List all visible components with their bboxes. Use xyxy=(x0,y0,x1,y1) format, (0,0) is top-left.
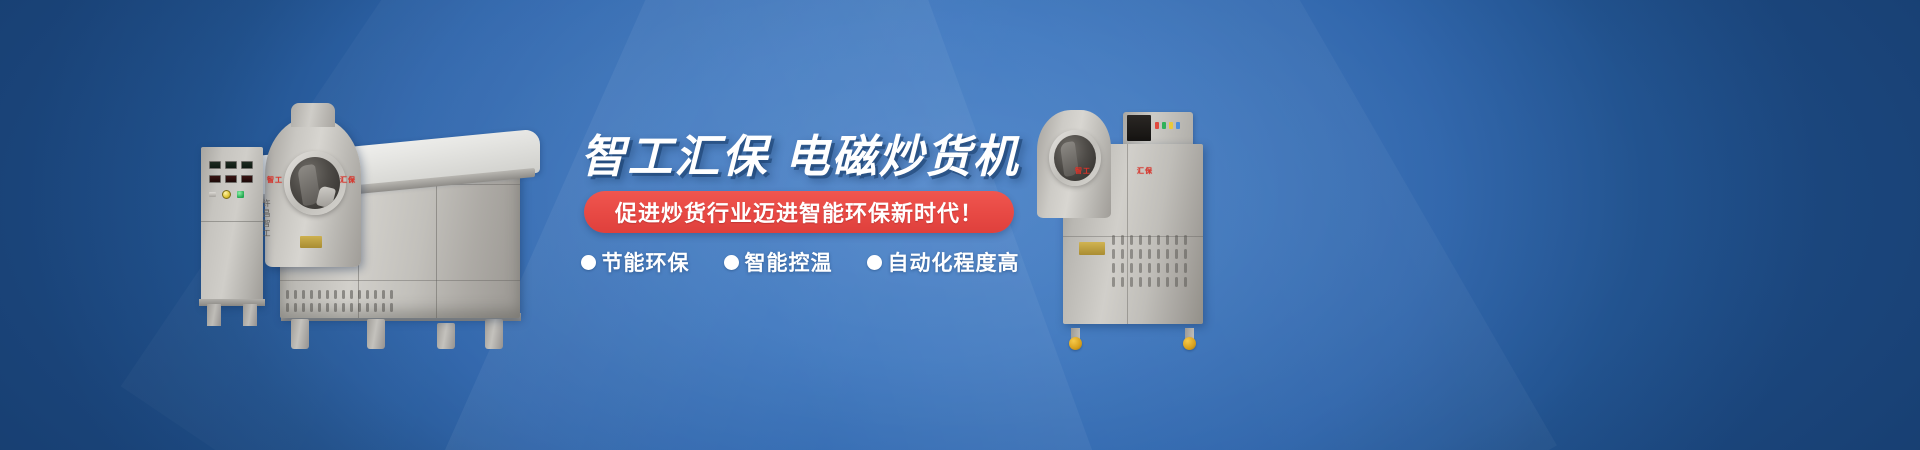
vent-louvre xyxy=(382,303,385,312)
indicator-light xyxy=(237,191,244,198)
vent-louvre xyxy=(374,303,377,312)
vent-louvre xyxy=(334,303,337,312)
vent-louvre xyxy=(1166,277,1169,287)
caster-wheel xyxy=(1069,337,1082,350)
vent-louvre xyxy=(1148,263,1151,273)
vent-louvre xyxy=(1166,263,1169,273)
filled-circle-bullet-icon xyxy=(724,255,739,270)
rotary-knob xyxy=(222,190,231,199)
vent-louvre xyxy=(294,303,297,312)
vent-louvre xyxy=(1139,277,1142,287)
machine-control-cabinet xyxy=(201,147,263,305)
panel-seam xyxy=(201,221,263,222)
indicator-light xyxy=(1155,122,1159,129)
vent-louvre xyxy=(1148,249,1151,259)
machine-leg xyxy=(485,319,503,349)
banner-text-column: 智工汇保电磁炒货机 促进炒货行业迈进智能环保新时代！ 节能环保 智能控温 自动化… xyxy=(540,0,1060,450)
vent-louvre xyxy=(350,290,353,299)
vent-louvre xyxy=(294,290,297,299)
vent-louvre xyxy=(1121,249,1124,259)
vent-louvre xyxy=(1121,277,1124,287)
vent-louvre xyxy=(1184,277,1187,287)
vent-louvre xyxy=(318,290,321,299)
machine-vent-grille xyxy=(285,289,397,317)
vent-louvre xyxy=(1121,235,1124,245)
vent-louvre xyxy=(1121,263,1124,273)
feature-item-automation: 自动化程度高 xyxy=(867,247,1020,277)
feature-item-smart-temperature: 智能控温 xyxy=(724,247,833,277)
vent-louvre xyxy=(286,290,289,299)
banner-subtitle-pill: 促进炒货行业迈进智能环保新时代！ xyxy=(584,191,1014,233)
indicator-light-row xyxy=(1155,122,1180,129)
vent-louvre xyxy=(1166,249,1169,259)
vent-louvre xyxy=(358,290,361,299)
control-button-row xyxy=(209,190,244,199)
vent-louvre xyxy=(1130,235,1133,245)
vent-louvre xyxy=(1112,263,1115,273)
digital-display xyxy=(241,175,253,183)
vent-louvre xyxy=(1175,263,1178,273)
indicator-light xyxy=(1169,122,1173,129)
vent-louvre xyxy=(382,290,385,299)
indicator-light xyxy=(1176,122,1180,129)
feature-label: 智能控温 xyxy=(745,247,833,277)
vent-louvre xyxy=(358,303,361,312)
vent-louvre xyxy=(1184,235,1187,245)
vent-louvre xyxy=(1175,249,1178,259)
vent-louvre xyxy=(302,290,305,299)
vent-louvre xyxy=(1130,263,1133,273)
vent-louvre xyxy=(1148,235,1151,245)
vent-louvre xyxy=(374,290,377,299)
machine-top-display xyxy=(1127,115,1151,141)
digital-display xyxy=(209,175,221,183)
vent-louvre xyxy=(1148,277,1151,287)
vent-louvre xyxy=(1175,277,1178,287)
vent-louvre xyxy=(1184,263,1187,273)
vent-louvre xyxy=(326,303,329,312)
vent-louvre xyxy=(390,303,393,312)
banner-feature-list: 节能环保 智能控温 自动化程度高 xyxy=(540,247,1060,277)
machine-nameplate xyxy=(1079,242,1105,255)
vent-louvre xyxy=(1139,249,1142,259)
vent-louvre xyxy=(1157,249,1160,259)
machine-chimney xyxy=(291,103,335,127)
digital-display xyxy=(209,161,221,169)
feature-label: 节能环保 xyxy=(602,247,690,277)
machine-leg xyxy=(367,319,385,349)
vent-louvre xyxy=(366,303,369,312)
banner-subtitle-text: 促进炒货行业迈进智能环保新时代！ xyxy=(615,196,983,228)
machine-drum-opening xyxy=(290,157,340,209)
product-brand-mark: 汇保 xyxy=(1137,166,1153,176)
promo-banner: 智工 汇保 xyxy=(0,0,1920,450)
vent-louvre xyxy=(310,303,313,312)
caster-wheel xyxy=(1183,337,1196,350)
vent-louvre xyxy=(1112,235,1115,245)
vent-louvre xyxy=(1139,263,1142,273)
vent-louvre xyxy=(1139,235,1142,245)
display-row xyxy=(209,161,253,169)
feature-item-energy-saving: 节能环保 xyxy=(581,247,690,277)
headline-part-2: 电磁炒货机 xyxy=(785,131,1020,182)
vent-louvre xyxy=(1130,249,1133,259)
vent-louvre xyxy=(326,290,329,299)
product-brand-mark: 智工 xyxy=(267,175,283,185)
vent-louvre xyxy=(350,303,353,312)
vent-louvre xyxy=(366,290,369,299)
product-image-roaster-large: 智工 汇保 xyxy=(185,103,545,348)
digital-display xyxy=(225,161,237,169)
machine-nameplate xyxy=(300,236,322,248)
filled-circle-bullet-icon xyxy=(581,255,596,270)
vent-louvre xyxy=(1130,277,1133,287)
digital-display xyxy=(241,161,253,169)
digital-display xyxy=(225,175,237,183)
filled-circle-bullet-icon xyxy=(867,255,882,270)
vent-louvre xyxy=(334,290,337,299)
vent-louvre xyxy=(342,290,345,299)
vent-louvre xyxy=(1157,263,1160,273)
vent-louvre xyxy=(1166,235,1169,245)
machine-vent-grille xyxy=(1111,234,1193,292)
product-brand-mark: 智工 xyxy=(1075,166,1091,176)
toggle-switch xyxy=(209,192,216,197)
banner-headline: 智工汇保电磁炒货机 xyxy=(540,132,1060,182)
vent-louvre xyxy=(1157,277,1160,287)
indicator-light xyxy=(1162,122,1166,129)
cabinet-leg xyxy=(243,304,257,326)
cabinet-leg xyxy=(207,304,221,326)
vent-louvre xyxy=(1184,249,1187,259)
machine-leg xyxy=(437,323,455,349)
control-panel xyxy=(204,157,260,215)
vent-louvre xyxy=(342,303,345,312)
panel-seam xyxy=(280,280,520,281)
product-image-roaster-small: 智工 汇保 xyxy=(1035,104,1235,354)
vent-louvre xyxy=(390,290,393,299)
product-brand-mark: 汇保 xyxy=(340,175,356,185)
vent-louvre xyxy=(310,290,313,299)
display-row xyxy=(209,175,253,183)
vent-louvre xyxy=(1175,235,1178,245)
vent-louvre xyxy=(286,303,289,312)
vent-louvre xyxy=(302,303,305,312)
vent-louvre xyxy=(1112,277,1115,287)
cabinet-vertical-label: 许昌智工 xyxy=(261,199,272,239)
machine-leg xyxy=(291,319,309,349)
vent-louvre xyxy=(1157,235,1160,245)
feature-label: 自动化程度高 xyxy=(888,247,1020,277)
vent-louvre xyxy=(1112,249,1115,259)
headline-part-1: 智工汇保 xyxy=(580,131,768,182)
vent-louvre xyxy=(318,303,321,312)
